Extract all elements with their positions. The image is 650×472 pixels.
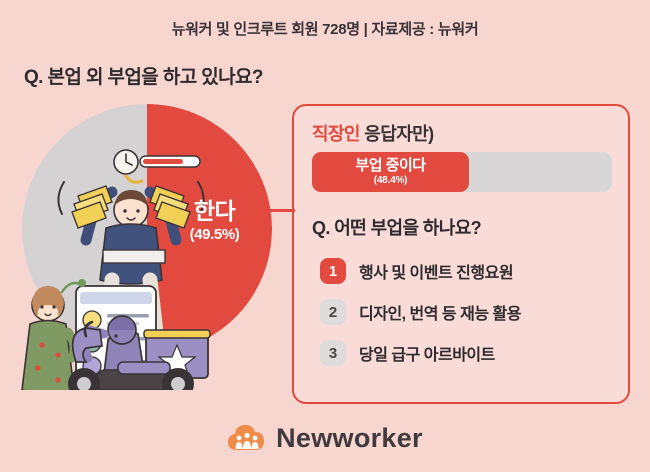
panel-title-rest: 응답자만) xyxy=(360,124,434,144)
infographic-canvas: 뉴워커 및 인크루트 회원 728명 | 자료제공 : 뉴워커 Q. 본업 외 … xyxy=(0,0,650,472)
rank-badge-1: 1 xyxy=(320,258,346,284)
bar-label: 부업 중이다 xyxy=(355,158,425,174)
page-title: Q. 본업 외 부업을 하고 있나요? xyxy=(24,62,263,89)
brand-name: Newworker xyxy=(276,423,423,454)
detail-panel: 직장인 응답자만) 부업 중이다 (48.4%) Q. 어떤 부업을 하나요? … xyxy=(292,104,630,404)
rank-badge-3: 3 xyxy=(320,340,346,366)
panel-question: Q. 어떤 부업을 하나요? xyxy=(312,214,481,240)
source-header: 뉴워커 및 인크루트 회원 728명 | 자료제공 : 뉴워커 xyxy=(0,18,650,39)
list-item: 3 당일 급구 아르바이트 xyxy=(320,340,620,366)
bar-chart-track: 부업 중이다 (48.4%) xyxy=(312,152,612,192)
panel-title: 직장인 응답자만) xyxy=(312,120,434,146)
bar-chart-fill: 부업 중이다 (48.4%) xyxy=(312,152,469,192)
list-item: 1 행사 및 이벤트 진행요원 xyxy=(320,258,620,284)
pie-to-panel-connector xyxy=(247,209,295,212)
rank-badge-2: 2 xyxy=(320,299,346,325)
bar-percent: (48.4%) xyxy=(374,175,408,186)
money-fan-left xyxy=(72,186,112,228)
rank-label-3: 당일 급구 아르바이트 xyxy=(359,341,495,365)
brand-logo: Newworker xyxy=(0,422,650,454)
money-fan-right xyxy=(150,186,190,228)
workers-illustration xyxy=(0,140,260,390)
panel-title-accent: 직장인 xyxy=(312,124,360,144)
ranking-list: 1 행사 및 이벤트 진행요원 2 디자인, 번역 등 재능 활용 3 당일 급… xyxy=(320,258,620,381)
cloud-people-icon xyxy=(227,422,267,454)
rank-label-2: 디자인, 번역 등 재능 활용 xyxy=(359,300,521,324)
rank-label-1: 행사 및 이벤트 진행요원 xyxy=(359,259,513,283)
list-item: 2 디자인, 번역 등 재능 활용 xyxy=(320,299,620,325)
